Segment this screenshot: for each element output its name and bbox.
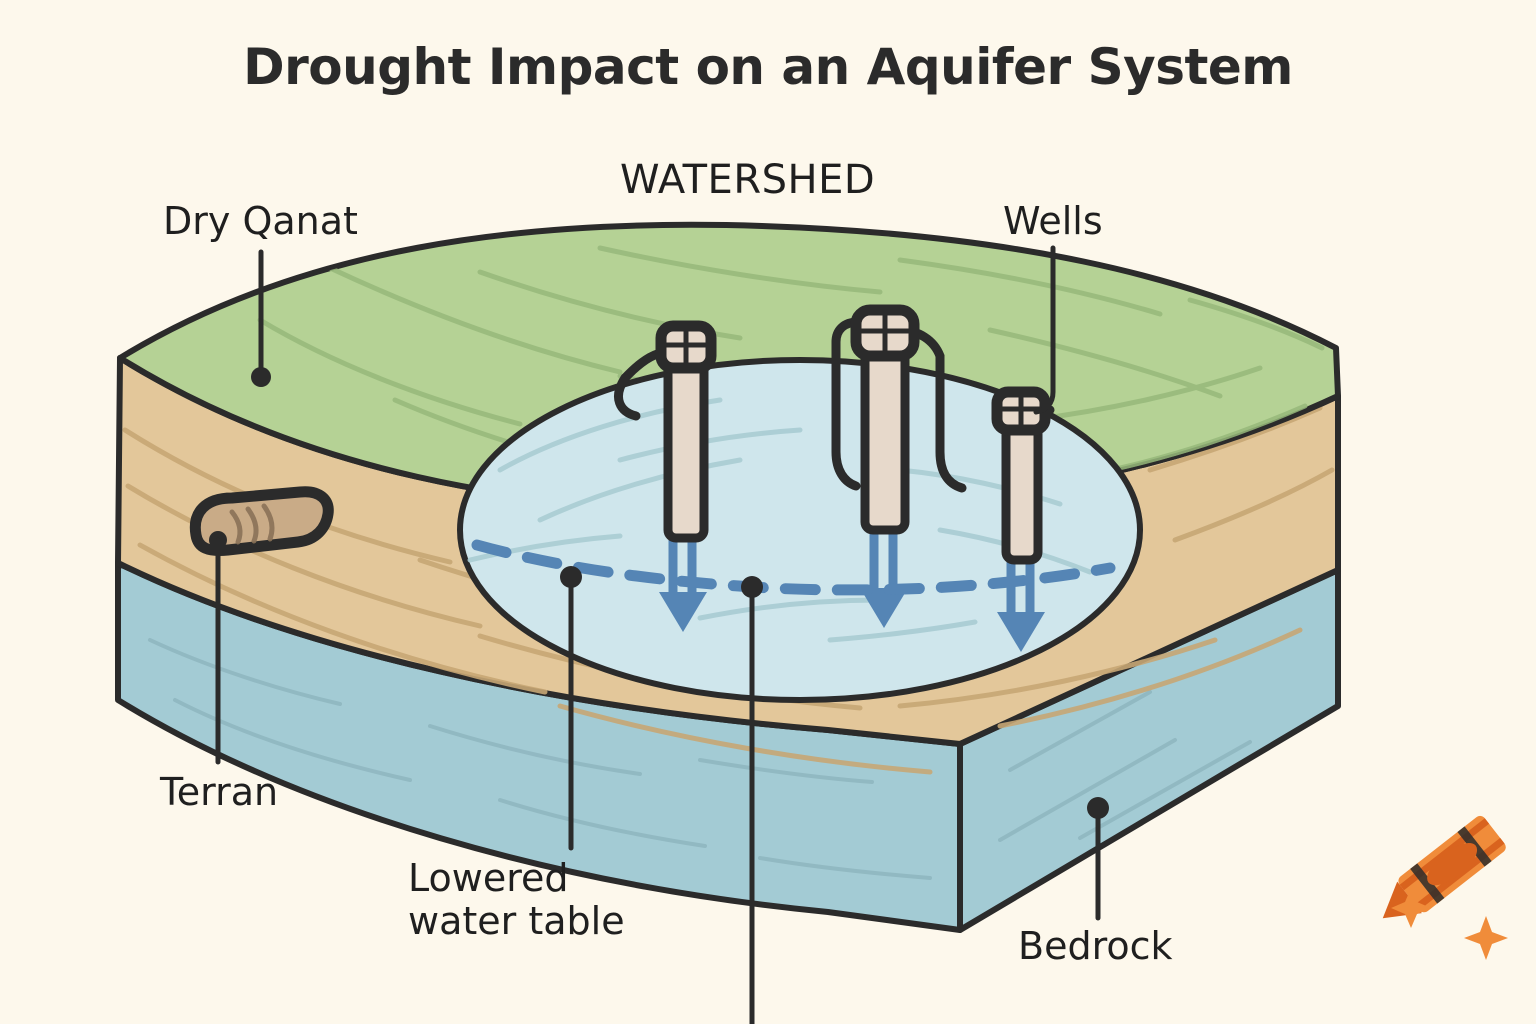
label-wells: Wells bbox=[1003, 200, 1103, 243]
well-1[interactable] bbox=[661, 326, 711, 538]
well-3[interactable] bbox=[997, 392, 1045, 560]
dry-qanat-outlet[interactable] bbox=[195, 492, 328, 551]
crayon-logo-watermark bbox=[1369, 814, 1508, 960]
label-lowered-water-table-line2: water table bbox=[408, 899, 625, 943]
well-2[interactable] bbox=[856, 310, 914, 530]
label-lowered-water-table: Lowered water table bbox=[408, 857, 688, 942]
label-watershed: WATERSHED bbox=[620, 158, 875, 203]
label-dry-qanat: Dry Qanat bbox=[163, 200, 358, 243]
aquifer-cross-section-illustration bbox=[0, 0, 1536, 1024]
label-bedrock: Bedrock bbox=[1018, 925, 1173, 968]
diagram-canvas: Drought Impact on an Aquifer System bbox=[0, 0, 1536, 1024]
label-terran: Terran bbox=[160, 771, 278, 814]
label-lowered-water-table-line1: Lowered bbox=[408, 856, 569, 900]
